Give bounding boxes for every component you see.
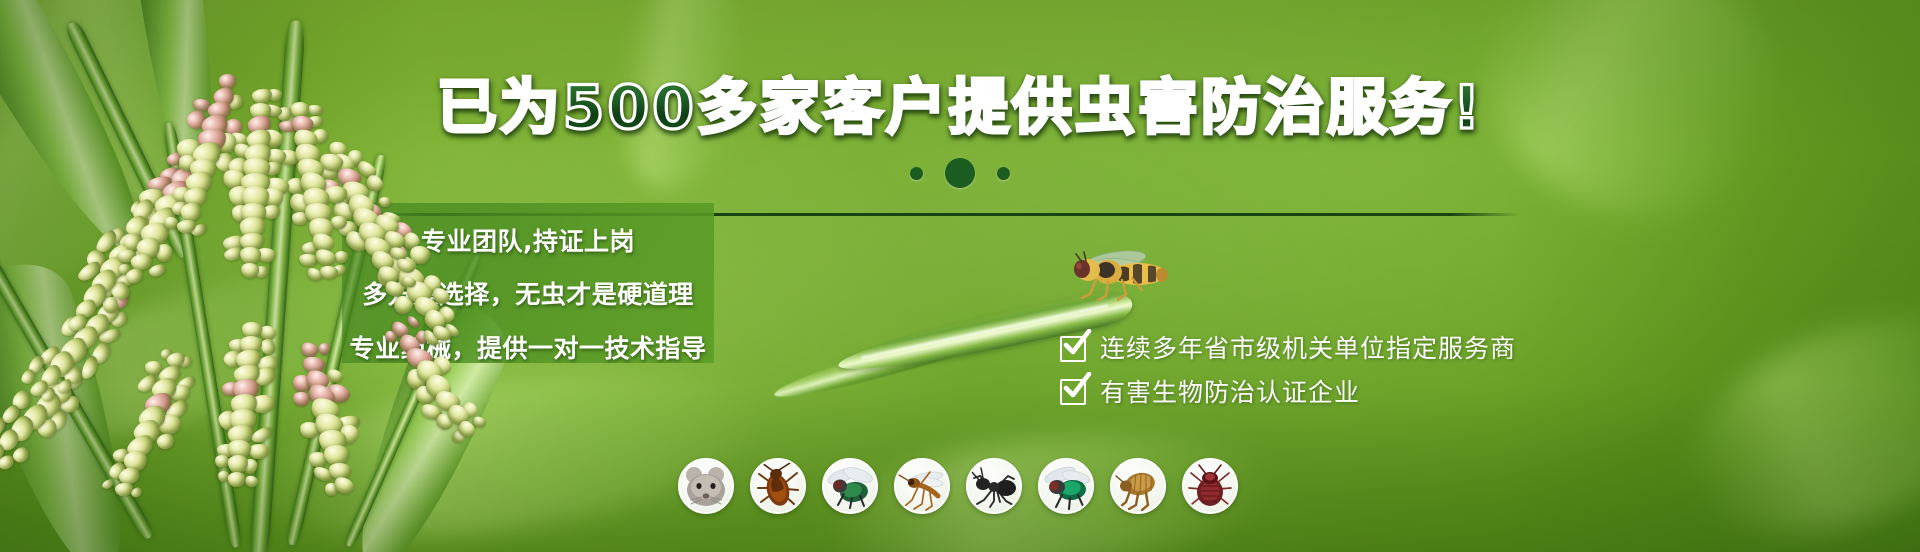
- ant-icon[interactable]: [966, 458, 1022, 514]
- flower-bud: [114, 482, 133, 497]
- dot-small-right-icon: [997, 167, 1010, 180]
- pest-control-hero-banner: 已为500多家客户提供虫害防治服务! 已为500多家客户提供虫害防治服务! 专业…: [0, 0, 1920, 552]
- mosquito-icon[interactable]: [894, 458, 950, 514]
- bedbug-icon[interactable]: [1182, 458, 1238, 514]
- credentials-checklist: 连续多年省市级机关单位指定服务商 有害生物防治认证企业: [1060, 335, 1516, 406]
- credential-label: 有害生物防治认证企业: [1100, 379, 1360, 407]
- list-item: 连续多年省市级机关单位指定服务商: [1060, 335, 1516, 363]
- selling-point-line-1: 专业团队,持证上岗: [421, 217, 635, 267]
- flower-bud: [227, 471, 245, 487]
- flower-bud: [292, 391, 311, 407]
- flower-bud: [248, 444, 268, 459]
- credential-label: 连续多年省市级机关单位指定服务商: [1100, 335, 1516, 363]
- dot-big-center-icon: [945, 158, 975, 188]
- dot-small-left-icon: [910, 167, 923, 180]
- flower-bud: [319, 343, 330, 355]
- pest-types-row: [678, 458, 1238, 514]
- flower-bud: [243, 474, 259, 489]
- list-item: 有害生物防治认证企业: [1060, 379, 1516, 407]
- flower-bud: [101, 477, 116, 491]
- check-box-icon: [1060, 379, 1086, 405]
- mouse-icon[interactable]: [678, 458, 734, 514]
- flower-bud: [306, 104, 323, 115]
- check-box-icon: [1060, 336, 1086, 362]
- blowfly-icon[interactable]: [1038, 458, 1094, 514]
- flea-icon[interactable]: [1110, 458, 1166, 514]
- housefly-icon[interactable]: [822, 458, 878, 514]
- cockroach-icon[interactable]: [750, 458, 806, 514]
- flower-bud: [249, 424, 274, 445]
- hoverfly-icon: [1060, 248, 1180, 302]
